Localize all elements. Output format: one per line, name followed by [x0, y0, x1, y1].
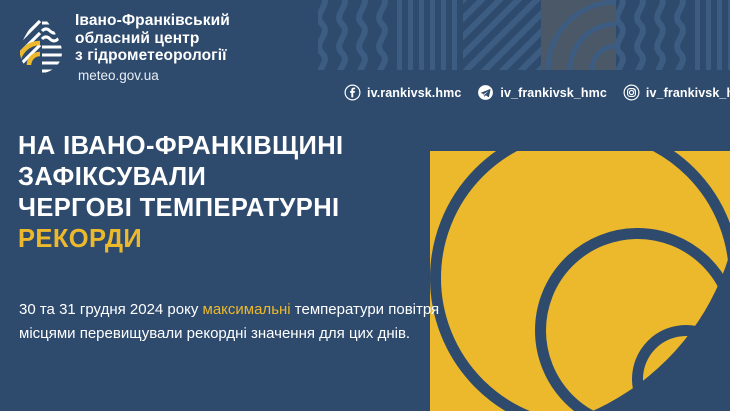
facebook-handle: iv.rankivsk.hmc: [367, 86, 461, 100]
social-link-telegram[interactable]: iv_frankivsk_hmc: [477, 84, 607, 101]
water-droplet-weather-icon: [16, 13, 66, 75]
social-link-instagram[interactable]: iv_frankivsk_hmc: [623, 84, 730, 101]
wave-lines-icon: [616, 0, 695, 70]
diagonal-lines-icon: [463, 0, 541, 70]
logo-title-line-3: з гідрометеорології: [75, 47, 230, 65]
vertical-stripe-panel-1: [397, 0, 463, 70]
telegram-icon: [477, 84, 494, 101]
concentric-arc-panel: [541, 0, 616, 70]
headline-line-3: ЧЕРГОВІ ТЕМПЕРАТУРНІ: [18, 193, 344, 224]
body-text-part-1: 30 та 31 грудня 2024 року: [19, 301, 203, 318]
vertical-lines-icon: [695, 0, 730, 70]
wave-panel-2: [616, 0, 695, 70]
logo-block[interactable]: Івано-Франківський обласний центр з гідр…: [16, 12, 230, 85]
poster-canvas: Івано-Франківський обласний центр з гідр…: [0, 0, 730, 411]
wave-panel-1: [318, 0, 397, 70]
body-paragraph: 30 та 31 грудня 2024 року максимальні те…: [19, 298, 489, 345]
headline-line-2: ЗАФІКСУВАЛИ: [18, 162, 344, 193]
logo-website-url[interactable]: meteo.gov.ua: [78, 67, 230, 85]
logo-title-line-2: обласний центр: [75, 30, 230, 48]
headline-accent-line: РЕКОРДИ: [18, 224, 344, 255]
social-link-facebook[interactable]: iv.rankivsk.hmc: [344, 84, 461, 101]
diagonal-stripe-panel: [463, 0, 541, 70]
wave-lines-icon: [318, 0, 397, 70]
logo-title-line-1: Івано-Франківський: [75, 12, 230, 30]
decorative-pattern-strip: [318, 0, 730, 70]
vertical-lines-icon: [397, 0, 463, 70]
telegram-handle: iv_frankivsk_hmc: [500, 86, 607, 100]
facebook-icon: [344, 84, 361, 101]
instagram-handle: iv_frankivsk_hmc: [646, 86, 730, 100]
headline-line-1: НА ІВАНО-ФРАНКІВЩИНІ: [18, 131, 344, 162]
vertical-stripe-panel-2: [695, 0, 730, 70]
concentric-arcs-icon: [541, 0, 616, 70]
sun-decoration: [430, 151, 730, 411]
headline: НА ІВАНО-ФРАНКІВЩИНІ ЗАФІКСУВАЛИ ЧЕРГОВІ…: [18, 131, 344, 255]
social-links-bar: iv.rankivsk.hmc iv_frankivsk_hmc iv_fran…: [344, 84, 730, 101]
instagram-icon: [623, 84, 640, 101]
body-highlight-word: максимальні: [203, 301, 291, 318]
logo-text-group: Івано-Франківський обласний центр з гідр…: [75, 12, 230, 85]
